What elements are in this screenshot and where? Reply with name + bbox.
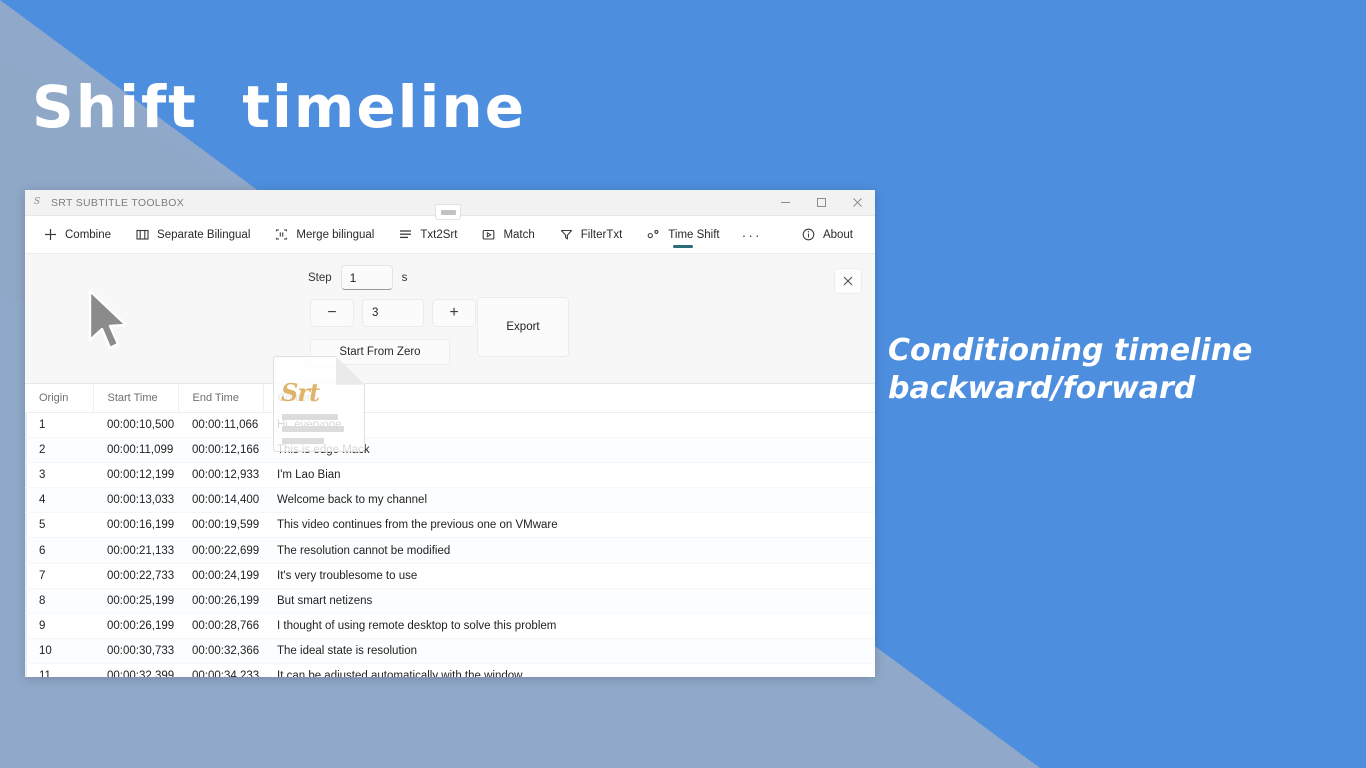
app-window: S SRT SUBTITLE TOOLBOX Combine — [25, 190, 875, 677]
info-circle-icon — [801, 227, 816, 242]
minimize-icon[interactable] — [767, 190, 803, 216]
toolbar-item-merge-bilingual[interactable]: Merge bilingual — [262, 216, 386, 253]
increment-button[interactable]: + — [432, 299, 476, 327]
main-toolbar: Combine Separate Bilingual — [25, 216, 875, 254]
mouse-cursor-icon — [85, 288, 137, 354]
shift-value-input[interactable] — [362, 299, 424, 327]
cell-start-time: 00:00:25,199 — [93, 588, 178, 613]
cell-end-time: 00:00:34,233 — [178, 664, 263, 677]
cell-origin: 9 — [25, 614, 93, 639]
maximize-icon[interactable] — [803, 190, 839, 216]
toolbar-item-label: About — [823, 229, 853, 241]
cell-start-time: 00:00:22,733 — [93, 563, 178, 588]
panel-close-button[interactable] — [834, 268, 862, 294]
toolbar-item-label: FilterTxt — [581, 229, 623, 241]
cell-start-time: 00:00:30,733 — [93, 639, 178, 664]
toolbar-item-label: Time Shift — [668, 229, 719, 241]
cell-content: It can be adjusted automatically with th… — [263, 664, 875, 677]
table-row[interactable]: 300:00:12,19900:00:12,933I'm Lao Bian — [25, 462, 875, 487]
time-shift-panel: Step s − + Start From Zero Export Srt — [25, 254, 875, 384]
toolbar-item-time-shift[interactable]: Time Shift — [634, 216, 731, 253]
svg-text:S: S — [34, 197, 40, 206]
step-row: Step s — [308, 265, 407, 290]
cell-start-time: 00:00:13,033 — [93, 488, 178, 513]
cell-origin: 11 — [25, 664, 93, 677]
toolbar-item-txt2srt[interactable]: Txt2Srt — [386, 216, 469, 253]
cell-origin: 10 — [25, 639, 93, 664]
cell-end-time: 00:00:28,766 — [178, 614, 263, 639]
table-row[interactable]: 200:00:11,09900:00:12,166This is edge Ma… — [25, 437, 875, 462]
toolbar-item-label: Merge bilingual — [296, 229, 374, 241]
window-title: SRT SUBTITLE TOOLBOX — [51, 197, 184, 209]
toolbar-item-label: Combine — [65, 229, 111, 241]
merge-box-icon — [274, 227, 289, 242]
cell-start-time: 00:00:11,099 — [93, 437, 178, 462]
column-header-start[interactable]: Start Time — [93, 384, 178, 412]
cell-content: Welcome back to my channel — [263, 488, 875, 513]
cell-content: But smart netizens — [263, 588, 875, 613]
toolbar-item-filtertxt[interactable]: FilterTxt — [547, 216, 635, 253]
table-row[interactable]: 400:00:13,03300:00:14,400Welcome back to… — [25, 488, 875, 513]
toolbar-item-label: Match — [503, 229, 534, 241]
cell-end-time: 00:00:24,199 — [178, 563, 263, 588]
play-box-icon — [481, 227, 496, 242]
column-header-content[interactable]: Content — [263, 384, 875, 412]
toolbar-item-label: Separate Bilingual — [157, 229, 250, 241]
cell-content: The resolution cannot be modified — [263, 538, 875, 563]
cell-content: I thought of using remote desktop to sol… — [263, 614, 875, 639]
cell-origin: 8 — [25, 588, 93, 613]
cell-end-time: 00:00:32,366 — [178, 639, 263, 664]
cell-start-time: 00:00:12,199 — [93, 462, 178, 487]
page-title: Shift timeline — [32, 78, 526, 136]
step-input[interactable] — [341, 265, 393, 290]
cell-start-time: 00:00:32,399 — [93, 664, 178, 677]
cell-start-time: 00:00:21,133 — [93, 538, 178, 563]
table-row[interactable]: 800:00:25,19900:00:26,199But smart netiz… — [25, 588, 875, 613]
cell-content: I'm Lao Bian — [263, 462, 875, 487]
cell-content: This is edge Mack — [263, 437, 875, 462]
shift-stepper: − + — [310, 299, 476, 327]
list-lines-icon — [398, 227, 413, 242]
srt-app-icon: S — [34, 196, 44, 209]
cell-end-time: 00:00:12,166 — [178, 437, 263, 462]
cell-content: This video continues from the previous o… — [263, 513, 875, 538]
cell-origin: 4 — [25, 488, 93, 513]
cell-end-time: 00:00:12,933 — [178, 462, 263, 487]
toolbar-item-match[interactable]: Match — [469, 216, 546, 253]
drag-handle-pill[interactable] — [435, 204, 461, 220]
cell-end-time: 00:00:26,199 — [178, 588, 263, 613]
table-row[interactable]: 1000:00:30,73300:00:32,366The ideal stat… — [25, 639, 875, 664]
close-icon — [843, 276, 853, 286]
cell-origin: 1 — [25, 412, 93, 437]
cell-end-time: 00:00:11,066 — [178, 412, 263, 437]
toolbar-overflow-button[interactable]: ··· — [732, 216, 772, 253]
table-row[interactable]: 700:00:22,73300:00:24,199It's very troub… — [25, 563, 875, 588]
plus-icon — [43, 227, 58, 242]
split-columns-icon — [135, 227, 150, 242]
toolbar-spacer — [772, 216, 789, 253]
active-tab-underline — [673, 245, 693, 248]
cell-content: The ideal state is resolution — [263, 639, 875, 664]
start-from-zero-button[interactable]: Start From Zero — [310, 339, 450, 365]
column-header-end[interactable]: End Time — [178, 384, 263, 412]
toolbar-item-about[interactable]: About — [789, 216, 865, 253]
subtitle-table[interactable]: Origin Start Time End Time Content 100:0… — [25, 384, 875, 677]
time-shift-icon — [646, 227, 661, 242]
cell-origin: 3 — [25, 462, 93, 487]
decrement-button[interactable]: − — [310, 299, 354, 327]
table-row[interactable]: 500:00:16,19900:00:19,599This video cont… — [25, 513, 875, 538]
table-row[interactable]: 900:00:26,19900:00:28,766I thought of us… — [25, 614, 875, 639]
table-row[interactable]: 100:00:10,50000:00:11,066Hi, everyone — [25, 412, 875, 437]
cell-content: Hi, everyone — [263, 412, 875, 437]
cell-start-time: 00:00:16,199 — [93, 513, 178, 538]
table-row[interactable]: 600:00:21,13300:00:22,699The resolution … — [25, 538, 875, 563]
cell-end-time: 00:00:19,599 — [178, 513, 263, 538]
close-icon[interactable] — [839, 190, 875, 216]
step-label: Step — [308, 272, 332, 284]
slide-stage: Shift timeline Conditioning timeline bac… — [0, 0, 1366, 768]
table-row[interactable]: 1100:00:32,39900:00:34,233It can be adju… — [25, 664, 875, 677]
table-body: 100:00:10,50000:00:11,066Hi, everyone200… — [25, 412, 875, 677]
toolbar-item-label: Txt2Srt — [420, 229, 457, 241]
cell-origin: 2 — [25, 437, 93, 462]
table-header-row: Origin Start Time End Time Content — [25, 384, 875, 412]
step-unit-label: s — [402, 272, 408, 284]
cell-origin: 6 — [25, 538, 93, 563]
toolbar-item-separate-bilingual[interactable]: Separate Bilingual — [123, 216, 262, 253]
cell-end-time: 00:00:14,400 — [178, 488, 263, 513]
cell-end-time: 00:00:22,699 — [178, 538, 263, 563]
export-button[interactable]: Export — [477, 297, 569, 357]
funnel-icon — [559, 227, 574, 242]
toolbar-item-combine[interactable]: Combine — [31, 216, 123, 253]
column-header-origin[interactable]: Origin — [25, 384, 93, 412]
drag-handle-bar — [441, 210, 456, 215]
cell-origin: 7 — [25, 563, 93, 588]
slide-caption: Conditioning timeline backward/forward — [888, 332, 1338, 409]
cell-start-time: 00:00:10,500 — [93, 412, 178, 437]
cell-start-time: 00:00:26,199 — [93, 614, 178, 639]
cell-origin: 5 — [25, 513, 93, 538]
cell-content: It's very troublesome to use — [263, 563, 875, 588]
